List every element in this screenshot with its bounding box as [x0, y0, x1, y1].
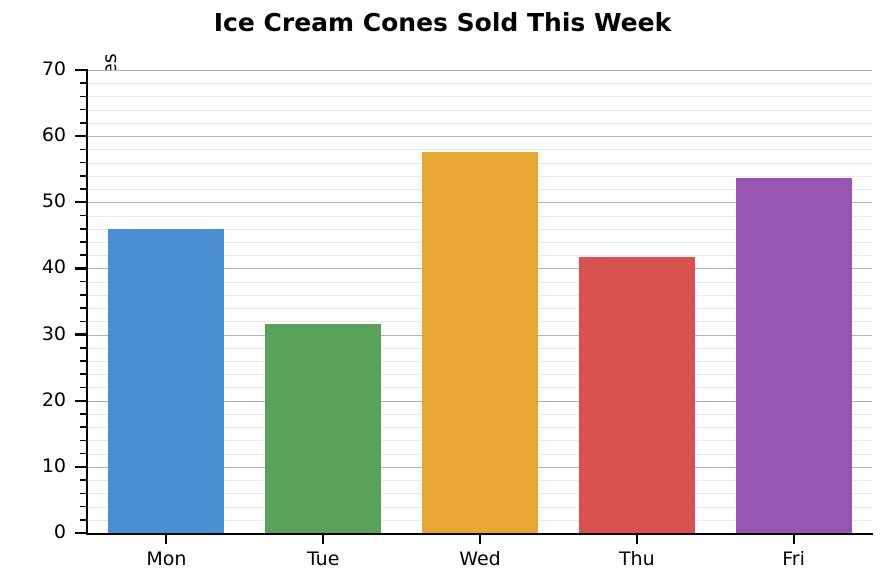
chart-title: Ice Cream Cones Sold This Week — [0, 8, 885, 37]
y-tick-minor — [80, 175, 88, 177]
y-tick-minor — [80, 426, 88, 428]
x-tick — [479, 535, 481, 544]
gridline-minor — [88, 110, 872, 111]
y-tick-minor — [80, 228, 88, 230]
x-tick-label: Thu — [577, 548, 697, 570]
y-tick-minor — [80, 82, 88, 84]
y-tick-label: 40 — [6, 256, 66, 278]
y-tick-major — [75, 532, 88, 534]
y-tick-minor — [80, 519, 88, 521]
y-tick-minor — [80, 215, 88, 217]
y-tick-minor — [80, 506, 88, 508]
y-tick-label: 0 — [6, 521, 66, 543]
y-tick-minor — [80, 294, 88, 296]
y-tick-minor — [80, 96, 88, 98]
y-tick-label: 30 — [6, 323, 66, 345]
gridline-major — [88, 70, 872, 71]
y-tick-minor — [80, 479, 88, 481]
y-tick-major — [75, 69, 88, 71]
y-tick-minor — [80, 149, 88, 151]
y-tick-label: 20 — [6, 389, 66, 411]
y-tick-label: 60 — [6, 124, 66, 146]
x-tick — [793, 535, 795, 544]
y-tick-minor — [80, 254, 88, 256]
y-tick-minor — [80, 373, 88, 375]
y-tick-minor — [80, 413, 88, 415]
y-tick-minor — [80, 321, 88, 323]
y-tick-major — [75, 267, 88, 269]
y-tick-major — [75, 201, 88, 203]
bar — [736, 178, 852, 533]
chart-figure: Ice Cream Cones Sold This Week Number of… — [0, 0, 885, 583]
y-tick-minor — [80, 162, 88, 164]
gridline-minor — [88, 123, 872, 124]
x-tick-label: Mon — [106, 548, 226, 570]
y-tick-major — [75, 466, 88, 468]
x-tick — [636, 535, 638, 544]
x-tick — [165, 535, 167, 544]
bar — [108, 229, 224, 533]
y-tick-minor — [80, 241, 88, 243]
y-tick-minor — [80, 188, 88, 190]
gridline-major — [88, 136, 872, 137]
y-tick-minor — [80, 360, 88, 362]
y-tick-minor — [80, 387, 88, 389]
y-tick-minor — [80, 122, 88, 124]
x-tick — [322, 535, 324, 544]
y-tick-label: 70 — [6, 58, 66, 80]
gridline-minor — [88, 149, 872, 150]
bar — [422, 152, 538, 533]
y-tick-minor — [80, 453, 88, 455]
y-tick-minor — [80, 493, 88, 495]
y-tick-minor — [80, 281, 88, 283]
x-tick-label: Fri — [734, 548, 854, 570]
gridline-minor — [88, 96, 872, 97]
gridline-minor — [88, 83, 872, 84]
y-tick-label: 10 — [6, 455, 66, 477]
y-tick-major — [75, 135, 88, 137]
y-tick-major — [75, 400, 88, 402]
y-tick-minor — [80, 347, 88, 349]
y-tick-minor — [80, 307, 88, 309]
y-tick-minor — [80, 109, 88, 111]
bar — [579, 257, 695, 533]
plot-area — [88, 70, 872, 533]
y-tick-label: 50 — [6, 190, 66, 212]
x-tick-label: Wed — [420, 548, 540, 570]
y-tick-minor — [80, 440, 88, 442]
bar — [265, 324, 381, 533]
y-tick-major — [75, 333, 88, 335]
x-tick-label: Tue — [263, 548, 383, 570]
